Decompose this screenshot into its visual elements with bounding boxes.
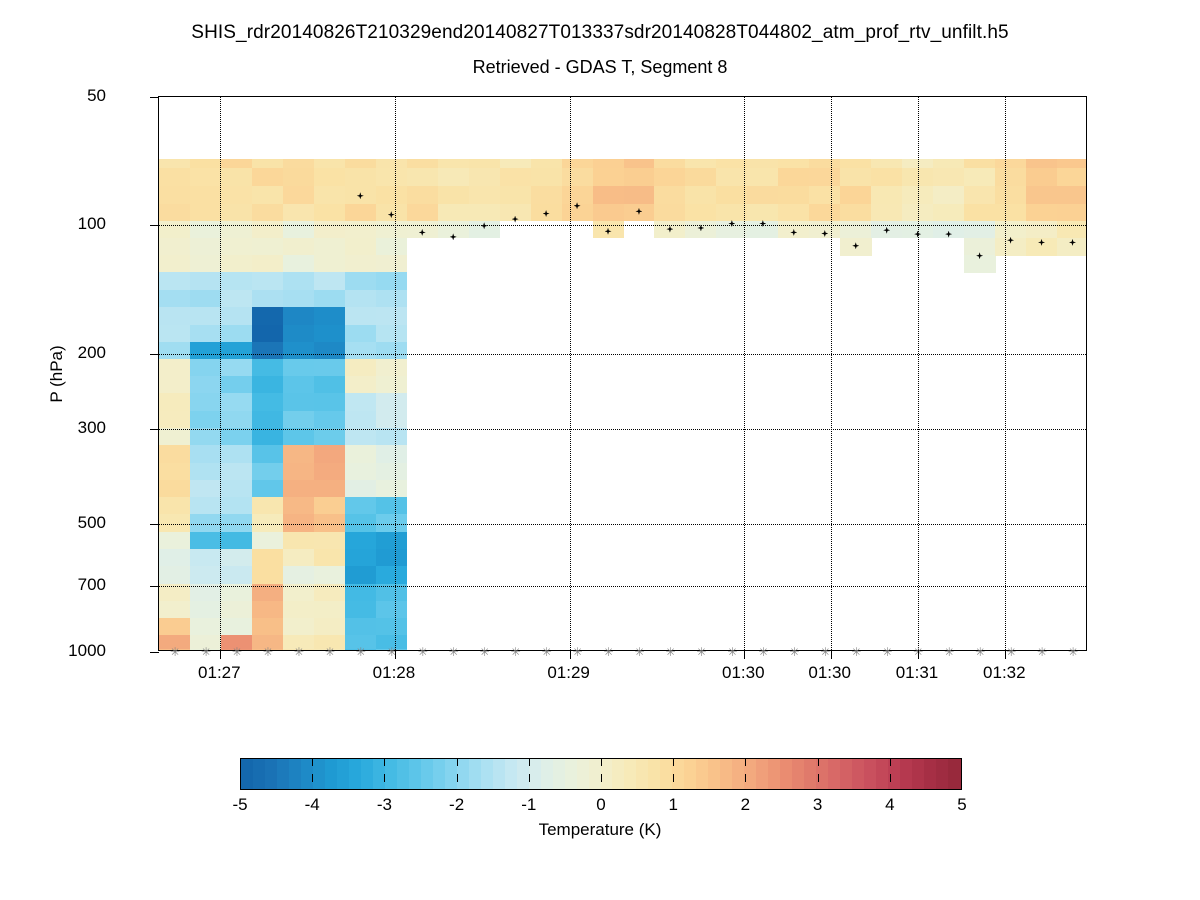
heatmap-cell <box>345 359 377 377</box>
heatmap-cell <box>345 325 377 343</box>
heatmap-cell <box>345 307 377 325</box>
colorbar-segment <box>768 759 781 789</box>
heatmap-cell <box>314 221 346 239</box>
y-axis-tick-label: 300 <box>78 418 106 438</box>
heatmap-cell <box>747 186 779 204</box>
gridline-vertical <box>831 97 832 650</box>
heatmap-cell <box>314 325 346 343</box>
heatmap-cell <box>345 238 377 256</box>
heatmap-cell <box>376 497 408 515</box>
colorbar-segment <box>804 759 817 789</box>
heatmap-cell <box>252 307 284 325</box>
heatmap-cell <box>159 497 191 515</box>
x-axis-tick <box>918 650 919 659</box>
heatmap-cell <box>500 168 532 187</box>
colorbar-segment <box>241 759 254 789</box>
heatmap-cell <box>995 204 1027 221</box>
heatmap-cell <box>159 480 191 498</box>
heatmap-cell <box>190 549 222 567</box>
heatmap-cell <box>283 549 315 567</box>
colorbar-tick <box>601 774 602 782</box>
heatmap-cell <box>376 428 408 446</box>
heatmap-cell <box>376 238 408 256</box>
colorbar-tick <box>529 774 530 782</box>
heatmap-cell <box>221 238 253 256</box>
heatmap-cell <box>376 376 408 394</box>
heatmap-cell <box>252 532 284 550</box>
heatmap-cell <box>685 168 717 187</box>
colorbar-segment <box>912 759 925 789</box>
heatmap-cell <box>221 204 253 221</box>
heatmap-cell <box>221 411 253 429</box>
heatmap-cell <box>1057 186 1086 204</box>
colorbar-segment <box>756 759 769 789</box>
heatmap-cell <box>252 463 284 481</box>
colorbar-segment <box>900 759 913 789</box>
heatmap-cell <box>654 204 686 221</box>
colorbar-segment <box>840 759 853 789</box>
heatmap-cell <box>593 168 625 187</box>
surface-pressure-marker: ✳ <box>232 648 241 657</box>
heatmap-cell <box>283 463 315 481</box>
heatmap-cell <box>221 221 253 239</box>
heatmap-cell <box>778 204 810 221</box>
colorbar-tick-label: -3 <box>377 795 392 815</box>
heatmap-cell <box>159 618 191 636</box>
colorbar-segment <box>265 759 278 789</box>
gridline-vertical <box>395 97 396 650</box>
colorbar-tick <box>457 758 458 766</box>
surface-pressure-marker: ✳ <box>1037 648 1046 657</box>
heatmap-cell <box>159 272 191 290</box>
heatmap-cell <box>407 221 439 239</box>
heatmap-cell <box>283 325 315 343</box>
heatmap-cell <box>809 204 841 221</box>
heatmap-cell <box>221 359 253 377</box>
colorbar-tick-label: -1 <box>521 795 536 815</box>
heatmap-cell <box>159 566 191 584</box>
colorbar-segment <box>864 759 877 789</box>
colorbar-segment <box>876 759 889 789</box>
heatmap-cell <box>190 204 222 221</box>
heatmap-cell <box>221 463 253 481</box>
colorbar-tick <box>890 758 891 766</box>
gridline-vertical <box>918 97 919 650</box>
heatmap-cell <box>221 255 253 273</box>
heatmap-cell <box>624 168 656 187</box>
heatmap-cell <box>531 186 563 204</box>
heatmap-cell <box>376 359 408 377</box>
colorbar-segment <box>289 759 302 789</box>
heatmap-cell <box>345 272 377 290</box>
heatmap-cell <box>345 601 377 619</box>
colorbar-segment <box>601 759 614 789</box>
heatmap-cell <box>283 480 315 498</box>
heatmap-cell <box>283 359 315 377</box>
heatmap-cell <box>190 463 222 481</box>
colorbar-segment <box>361 759 374 789</box>
heatmap-cell <box>376 618 408 636</box>
heatmap-cell <box>283 186 315 204</box>
y-axis-tick-label: 500 <box>78 513 106 533</box>
y-axis-tick <box>150 524 159 525</box>
colorbar-segment <box>313 759 326 789</box>
surface-pressure-marker: ✳ <box>727 648 736 657</box>
heatmap-cell <box>469 204 501 221</box>
heatmap-cell <box>345 428 377 446</box>
heatmap-cell <box>190 532 222 550</box>
surface-pressure-marker: ✳ <box>263 648 272 657</box>
heatmap-cell <box>345 393 377 411</box>
heatmap-cell <box>933 186 965 204</box>
y-axis-tick-label: 50 <box>87 86 106 106</box>
heatmap-cell <box>314 342 346 360</box>
colorbar-segment <box>624 759 637 789</box>
heatmap-cell <box>283 272 315 290</box>
x-axis-tick-label: 01:30 <box>808 663 851 683</box>
surface-pressure-marker: ✳ <box>1068 648 1077 657</box>
heatmap-cell <box>314 480 346 498</box>
heatmap-cell <box>283 393 315 411</box>
heatmap-cell <box>1026 221 1058 239</box>
heatmap-cell <box>345 480 377 498</box>
colorbar-segment <box>828 759 841 789</box>
heatmap-cell <box>593 186 625 204</box>
heatmap-cell <box>159 307 191 325</box>
heatmap-cell <box>345 342 377 360</box>
heatmap-cell <box>252 290 284 308</box>
colorbar-tick-label: 3 <box>813 795 822 815</box>
heatmap-cell <box>407 204 439 221</box>
heatmap-cell <box>221 393 253 411</box>
heatmap-cell <box>190 618 222 636</box>
heatmap-cell <box>221 428 253 446</box>
heatmap-cell <box>314 601 346 619</box>
surface-pressure-marker: ✳ <box>542 648 551 657</box>
gridline-vertical <box>220 97 221 650</box>
colorbar-segment <box>612 759 625 789</box>
colorbar-tick-label: 0 <box>596 795 605 815</box>
colorbar-tick-label: -5 <box>232 795 247 815</box>
heatmap-cell <box>654 168 686 187</box>
colorbar-tick <box>818 758 819 766</box>
heatmap-cell <box>778 168 810 187</box>
surface-pressure-marker: ✳ <box>851 648 860 657</box>
x-axis-tick-label: 01:31 <box>896 663 939 683</box>
heatmap-cell <box>252 325 284 343</box>
heatmap-cell <box>376 342 408 360</box>
heatmap-cell <box>252 238 284 256</box>
heatmap-cell <box>283 618 315 636</box>
heatmap-cell <box>252 376 284 394</box>
heatmap-cell <box>1026 168 1058 187</box>
colorbar-tick <box>384 774 385 782</box>
heatmap-cell <box>283 168 315 187</box>
heatmap-cell <box>376 463 408 481</box>
heatmap-cell <box>283 307 315 325</box>
heatmap-cell <box>283 238 315 256</box>
y-axis-tick <box>150 225 159 226</box>
heatmap-cell <box>314 168 346 187</box>
heatmap-cell <box>190 393 222 411</box>
heatmap-cell <box>252 411 284 429</box>
heatmap-cell <box>809 186 841 204</box>
y-axis-tick-label: 700 <box>78 575 106 595</box>
heatmap-cell <box>716 186 748 204</box>
heatmap-cell <box>314 428 346 446</box>
heatmap-cell <box>469 186 501 204</box>
colorbar-segment <box>577 759 590 789</box>
heatmap-cell <box>840 204 872 221</box>
heatmap-cell <box>283 255 315 273</box>
heatmap-cell <box>190 325 222 343</box>
y-axis-tick <box>150 429 159 430</box>
heatmap-cell <box>964 221 996 239</box>
heatmap-cell <box>376 411 408 429</box>
heatmap-cell <box>159 601 191 619</box>
colorbar-segment <box>433 759 446 789</box>
surface-pressure-marker: ✳ <box>882 648 891 657</box>
surface-pressure-marker: ✳ <box>325 648 334 657</box>
heatmap-cell <box>376 393 408 411</box>
heatmap-cell <box>190 376 222 394</box>
colorbar-tick <box>384 758 385 766</box>
heatmap-cell <box>531 168 563 187</box>
gridline-horizontal <box>159 354 1086 355</box>
heatmap-cell <box>376 532 408 550</box>
heatmap-cell <box>159 290 191 308</box>
heatmap-cell <box>376 601 408 619</box>
heatmap-cell <box>314 532 346 550</box>
heatmap-cell <box>407 168 439 187</box>
colorbar-segment <box>529 759 542 789</box>
heatmap-cell <box>933 168 965 187</box>
heatmap-cell <box>314 307 346 325</box>
colorbar-tick-label: 1 <box>668 795 677 815</box>
heatmap-cell <box>190 255 222 273</box>
heatmap-cell <box>1026 186 1058 204</box>
heatmap-cell <box>376 325 408 343</box>
heatmap-cell <box>964 186 996 204</box>
heatmap-cell <box>314 566 346 584</box>
heatmap-cell <box>190 342 222 360</box>
heatmap-cell <box>1057 221 1086 239</box>
colorbar-segment <box>421 759 434 789</box>
heatmap-cell <box>159 376 191 394</box>
colorbar-segment <box>732 759 745 789</box>
heatmap-cell <box>376 186 408 204</box>
colorbar-segment <box>936 759 949 789</box>
colorbar-segment <box>481 759 494 789</box>
heatmap-cell <box>345 255 377 273</box>
y-axis-tick <box>150 354 159 355</box>
surface-pressure-marker: ✳ <box>634 648 643 657</box>
heatmap-cell <box>221 186 253 204</box>
y-axis-tick-label: 100 <box>78 214 106 234</box>
heatmap-cell <box>159 325 191 343</box>
colorbar-segment <box>385 759 398 789</box>
heatmap-cell <box>314 238 346 256</box>
colorbar-segment <box>589 759 602 789</box>
x-axis-tick <box>744 650 745 659</box>
heatmap-cell <box>252 272 284 290</box>
surface-pressure-marker: ✳ <box>820 648 829 657</box>
heatmap-cell <box>964 238 996 256</box>
colorbar-tick <box>673 758 674 766</box>
heatmap-cell <box>221 290 253 308</box>
heatmap-surface <box>159 97 1086 650</box>
surface-pressure-marker: ✳ <box>573 648 582 657</box>
heatmap-cell <box>314 445 346 463</box>
heatmap-cell <box>376 221 408 239</box>
heatmap-cell <box>190 359 222 377</box>
gridline-vertical <box>570 97 571 650</box>
heatmap-cell <box>438 168 470 187</box>
heatmap-cell <box>345 221 377 239</box>
heatmap-cell <box>1026 204 1058 221</box>
heatmap-cell <box>345 376 377 394</box>
heatmap-cell <box>314 463 346 481</box>
colorbar-segment <box>924 759 937 789</box>
colorbar-tick <box>745 758 746 766</box>
heatmap-cell <box>283 445 315 463</box>
heatmap-cell <box>283 204 315 221</box>
heatmap-cell <box>345 290 377 308</box>
heatmap-cell <box>314 376 346 394</box>
gridline-vertical <box>1005 97 1006 650</box>
surface-pressure-marker: ✳ <box>480 648 489 657</box>
colorbar-segment <box>565 759 578 789</box>
colorbar-segment <box>672 759 685 789</box>
heatmap-cell <box>1057 204 1086 221</box>
colorbar-segment <box>720 759 733 789</box>
colorbar-tick-label: -2 <box>449 795 464 815</box>
heatmap-cell <box>469 221 501 239</box>
heatmap-cell <box>159 168 191 187</box>
heatmap-cell <box>314 204 346 221</box>
heatmap-cell <box>314 186 346 204</box>
surface-pressure-marker: ✳ <box>944 648 953 657</box>
heatmap-cell <box>190 168 222 187</box>
heatmap-cell <box>283 376 315 394</box>
heatmap-cell <box>376 272 408 290</box>
heatmap-cell <box>190 290 222 308</box>
gridline-vertical <box>744 97 745 650</box>
heatmap-cell <box>221 532 253 550</box>
heatmap-cell <box>345 618 377 636</box>
heatmap-cell <box>407 186 439 204</box>
heatmap-cell <box>562 186 594 204</box>
surface-pressure-marker: ✳ <box>1006 648 1015 657</box>
heatmap-cell <box>252 359 284 377</box>
heatmap-cell <box>159 549 191 567</box>
heatmap-cell <box>964 204 996 221</box>
y-axis-title: P (hPa) <box>47 345 67 402</box>
heatmap-cell <box>190 272 222 290</box>
colorbar-segment <box>553 759 566 789</box>
heatmap-cell <box>190 411 222 429</box>
colorbar-segment <box>708 759 721 789</box>
y-axis-tick <box>150 586 159 587</box>
colorbar-tick-label: -4 <box>305 795 320 815</box>
heatmap-cell <box>871 168 903 187</box>
heatmap-cell <box>159 445 191 463</box>
heatmap-cell <box>159 532 191 550</box>
figure-title: SHIS_rdr20140826T210329end20140827T01333… <box>0 22 1200 44</box>
x-axis-tick-label: 01:28 <box>373 663 416 683</box>
colorbar-segment <box>852 759 865 789</box>
heatmap-cell <box>159 342 191 360</box>
colorbar-tick <box>529 758 530 766</box>
colorbar-segment <box>253 759 266 789</box>
heatmap-cell <box>252 255 284 273</box>
surface-pressure-marker: ✳ <box>789 648 798 657</box>
heatmap-cell <box>345 445 377 463</box>
colorbar-tick <box>673 774 674 782</box>
colorbar-segment <box>780 759 793 789</box>
y-axis-tick <box>150 652 159 653</box>
heatmap-cell <box>252 342 284 360</box>
x-axis-tick-label: 01:29 <box>547 663 590 683</box>
heatmap-cell <box>283 342 315 360</box>
heatmap-cell <box>871 186 903 204</box>
heatmap-cell <box>376 307 408 325</box>
heatmap-cell <box>376 255 408 273</box>
heatmap-cell <box>314 255 346 273</box>
heatmap-cell <box>159 238 191 256</box>
surface-pressure-marker: ✳ <box>170 648 179 657</box>
heatmap-cell <box>778 186 810 204</box>
heatmap-cell <box>221 497 253 515</box>
heatmap-cell <box>190 566 222 584</box>
heatmap-cell <box>190 238 222 256</box>
heatmap-cell <box>221 549 253 567</box>
heatmap-cell <box>376 445 408 463</box>
heatmap-cell <box>995 168 1027 187</box>
colorbar-tick <box>745 774 746 782</box>
surface-pressure-marker: ✳ <box>975 648 984 657</box>
heatmap-cell <box>995 186 1027 204</box>
heatmap-cell <box>283 411 315 429</box>
heatmap-cell <box>376 566 408 584</box>
heatmap-cell <box>933 204 965 221</box>
heatmap-cell <box>159 255 191 273</box>
colorbar-segment <box>409 759 422 789</box>
heatmap-cell <box>376 290 408 308</box>
heatmap-cell <box>221 376 253 394</box>
colorbar-segment <box>277 759 290 789</box>
heatmap-cell <box>221 601 253 619</box>
heatmap-cell <box>159 204 191 221</box>
heatmap-cell <box>314 359 346 377</box>
heatmap-cell <box>314 497 346 515</box>
heatmap-cell <box>747 204 779 221</box>
heatmap-cell <box>283 290 315 308</box>
heatmap-cell <box>314 290 346 308</box>
heatmap-cell <box>283 221 315 239</box>
heatmap-cell <box>221 307 253 325</box>
heatmap-cell <box>314 549 346 567</box>
heatmap-cell <box>964 168 996 187</box>
colorbar-tick-label: 5 <box>957 795 966 815</box>
colorbar-segment <box>517 759 530 789</box>
heatmap-cell <box>345 497 377 515</box>
heatmap-cell <box>995 221 1027 239</box>
colorbar-segment <box>684 759 697 789</box>
heatmap-cell <box>593 204 625 221</box>
colorbar-tick <box>457 774 458 782</box>
heatmap-cell <box>345 463 377 481</box>
